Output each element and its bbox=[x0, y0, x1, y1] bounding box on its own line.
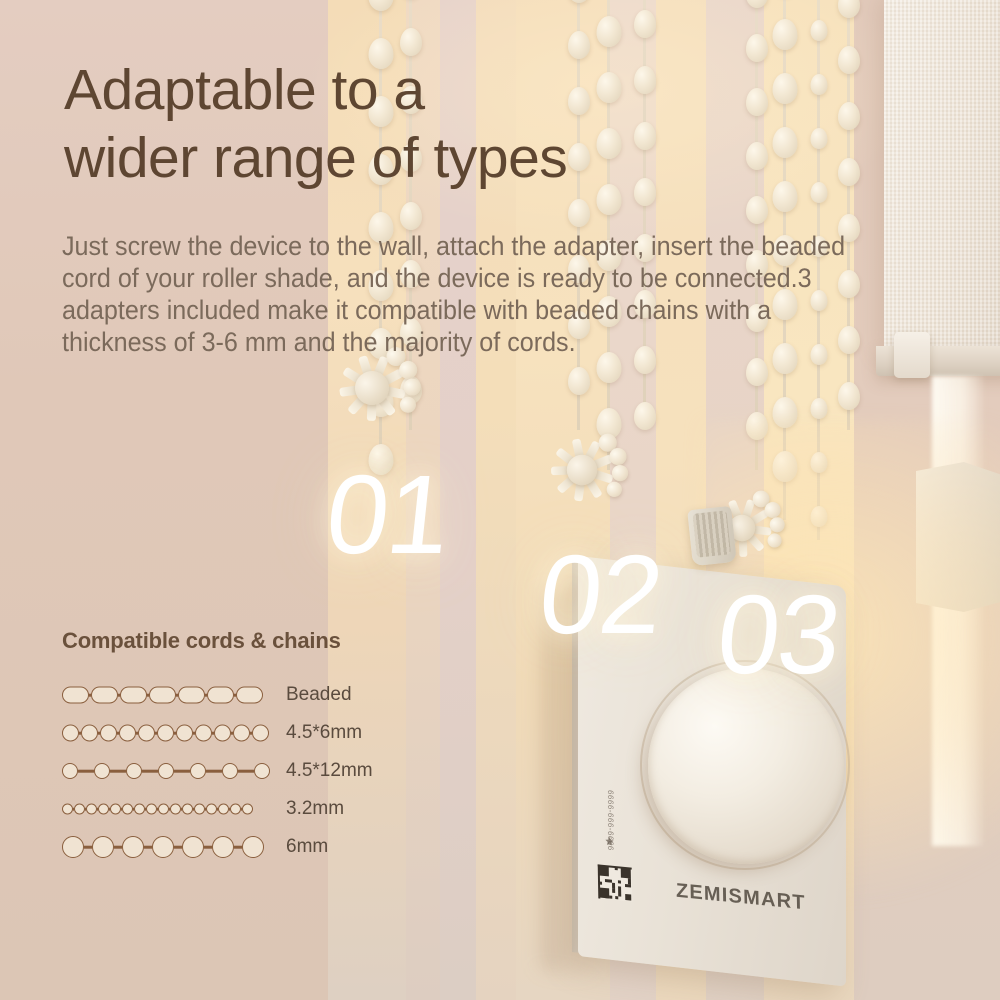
chain-connector bbox=[174, 770, 190, 773]
chain-bead bbox=[838, 0, 860, 18]
page-title: Adaptable to a wider range of types bbox=[64, 56, 764, 192]
chain-link bbox=[110, 804, 121, 815]
chain-bead bbox=[400, 28, 422, 56]
legend-rows: Beaded4.5*6mm4.5*12mm3.2mm6mm bbox=[62, 676, 462, 866]
chain-link bbox=[206, 804, 217, 815]
legend-label: 4.5*6mm bbox=[286, 722, 362, 744]
chain-link bbox=[207, 687, 234, 704]
headline-line-1: Adaptable to a bbox=[64, 56, 764, 124]
chain-bead bbox=[773, 19, 798, 50]
chain-bead bbox=[838, 382, 860, 410]
chain-bead bbox=[400, 202, 422, 230]
chain-diagram-beaded bbox=[62, 680, 262, 710]
chain-bead bbox=[811, 20, 828, 41]
chain-link bbox=[119, 725, 136, 742]
chain-link bbox=[122, 836, 144, 858]
chain-link bbox=[134, 804, 145, 815]
chain-bead bbox=[811, 182, 828, 203]
adapter-socket bbox=[687, 506, 737, 566]
chain-bead bbox=[811, 128, 828, 149]
chain-connector bbox=[84, 846, 92, 849]
chain-bead bbox=[634, 10, 656, 38]
chain-link bbox=[252, 725, 269, 742]
chain-link bbox=[214, 725, 231, 742]
chain-connector bbox=[144, 846, 152, 849]
chain-bead bbox=[568, 367, 590, 395]
chain-link bbox=[98, 804, 109, 815]
chain-link bbox=[100, 725, 117, 742]
chain-link bbox=[170, 804, 181, 815]
chain-link bbox=[182, 804, 193, 815]
chain-bead bbox=[568, 31, 590, 59]
chain-bead bbox=[568, 0, 590, 3]
chain-link bbox=[126, 763, 142, 779]
chain-link bbox=[157, 725, 174, 742]
chain-bead bbox=[369, 0, 394, 11]
chain-link bbox=[146, 804, 157, 815]
valance-texture bbox=[884, 0, 1000, 350]
matter-certification-icon bbox=[604, 835, 615, 847]
legend-label: 6mm bbox=[286, 836, 328, 858]
chain-bead bbox=[811, 398, 828, 419]
chain-link bbox=[158, 804, 169, 815]
headline-line-2: wider range of types bbox=[64, 124, 764, 192]
chain-link bbox=[91, 687, 118, 704]
chain-link bbox=[62, 687, 89, 704]
chain-link bbox=[190, 763, 206, 779]
chain-connector bbox=[234, 846, 242, 849]
chain-bead bbox=[746, 0, 768, 8]
chain-connector bbox=[114, 846, 122, 849]
chain-bead bbox=[838, 102, 860, 130]
chain-diagram-4-5-12mm bbox=[62, 756, 262, 786]
description-paragraph: Just screw the device to the wall, attac… bbox=[62, 230, 862, 358]
chain-link bbox=[149, 687, 176, 704]
chain-link bbox=[254, 763, 270, 779]
chain-link bbox=[138, 725, 155, 742]
chain-link bbox=[92, 836, 114, 858]
blind-pull-tab bbox=[894, 332, 930, 378]
chain-link bbox=[62, 725, 79, 742]
legend-row: 4.5*12mm bbox=[62, 752, 462, 790]
legend-title: Compatible cords & chains bbox=[62, 628, 462, 654]
chain-connector bbox=[142, 770, 158, 773]
chain-bead bbox=[773, 127, 798, 158]
chain-link bbox=[176, 725, 193, 742]
chain-link bbox=[194, 804, 205, 815]
chain-link bbox=[178, 687, 205, 704]
chain-link bbox=[86, 804, 97, 815]
chain-bead bbox=[634, 402, 656, 430]
chain-diagram-4-5-6mm bbox=[62, 718, 262, 748]
chain-bead bbox=[773, 181, 798, 212]
legend-label: 3.2mm bbox=[286, 798, 344, 820]
legend-label: 4.5*12mm bbox=[286, 760, 373, 782]
chain-bead bbox=[568, 199, 590, 227]
bead-chain bbox=[836, 0, 862, 430]
compatible-cords-legend: Compatible cords & chains Beaded4.5*6mm4… bbox=[62, 628, 462, 866]
chain-link bbox=[230, 804, 241, 815]
chain-diagram-3-2mm bbox=[62, 794, 262, 824]
legend-row: 4.5*6mm bbox=[62, 714, 462, 752]
chain-bead bbox=[838, 46, 860, 74]
chain-connector bbox=[204, 846, 212, 849]
chain-link bbox=[122, 804, 133, 815]
chain-link bbox=[158, 763, 174, 779]
legend-label: Beaded bbox=[286, 684, 352, 706]
legend-row: 6mm bbox=[62, 828, 462, 866]
chain-link bbox=[195, 725, 212, 742]
chain-link bbox=[120, 687, 147, 704]
chain-connector bbox=[78, 770, 94, 773]
chain-link bbox=[233, 725, 250, 742]
chain-bead bbox=[811, 74, 828, 95]
chain-link bbox=[182, 836, 204, 858]
chain-connector bbox=[206, 770, 222, 773]
chain-link bbox=[212, 836, 234, 858]
adapter-chain-bead bbox=[610, 464, 629, 483]
chain-adapter-sprocket bbox=[528, 416, 636, 524]
chain-link bbox=[74, 804, 85, 815]
chain-connector bbox=[174, 846, 182, 849]
step-number-02: 02 bbox=[533, 530, 667, 659]
chain-bead bbox=[773, 73, 798, 104]
step-number-03: 03 bbox=[711, 570, 845, 699]
chain-bead bbox=[746, 358, 768, 386]
legend-row: Beaded bbox=[62, 676, 462, 714]
chain-connector bbox=[238, 770, 254, 773]
chain-link bbox=[62, 763, 78, 779]
product-marketing-image: 6666-666-6666 ZEMISMART Adaptable to a w… bbox=[0, 0, 1000, 1000]
chain-link bbox=[62, 804, 73, 815]
chain-bead bbox=[597, 16, 622, 47]
chain-link bbox=[62, 836, 84, 858]
chain-link bbox=[242, 836, 264, 858]
chain-link bbox=[242, 804, 253, 815]
chain-link bbox=[222, 763, 238, 779]
chain-bead bbox=[746, 196, 768, 224]
adapter-chain-bead bbox=[606, 481, 624, 499]
chain-link bbox=[94, 763, 110, 779]
chain-link bbox=[218, 804, 229, 815]
roller-blind-valance bbox=[884, 0, 1000, 350]
step-number-01: 01 bbox=[320, 450, 454, 579]
chain-link bbox=[81, 725, 98, 742]
chain-bead bbox=[838, 158, 860, 186]
chain-link bbox=[236, 687, 263, 704]
chain-link bbox=[152, 836, 174, 858]
chain-diagram-6mm bbox=[62, 832, 262, 862]
qr-code bbox=[598, 864, 633, 901]
legend-row: 3.2mm bbox=[62, 790, 462, 828]
chain-connector bbox=[110, 770, 126, 773]
